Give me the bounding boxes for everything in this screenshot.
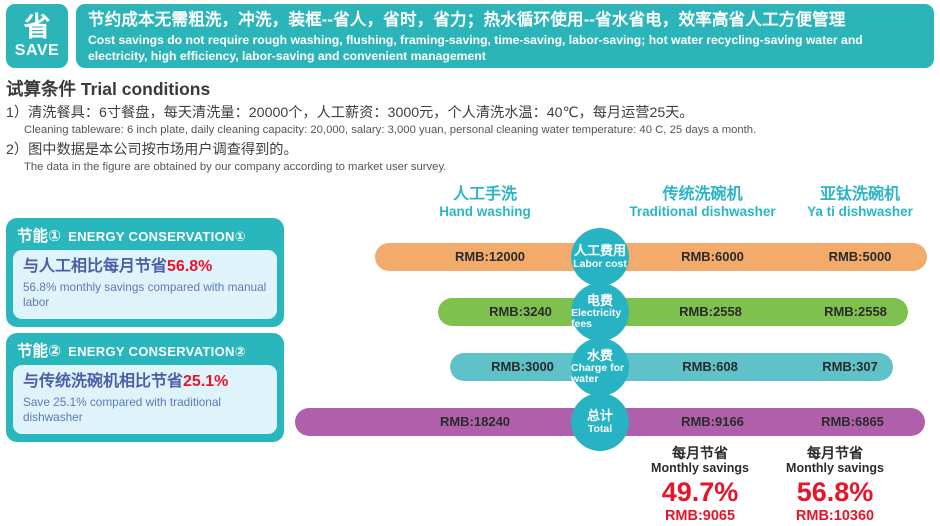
chart-row-badge-electricity-fees-cn: 电费 (587, 294, 613, 308)
monthly-savings-yati-amount: RMB:10360 (760, 508, 910, 525)
column-header-traditional-dishwasher-en: Traditional dishwasher (620, 204, 785, 220)
monthly-savings-yati-en: Monthly savings (760, 461, 910, 476)
chart-value-electricity-traditional: RMB:2558 (638, 298, 783, 326)
trial-conditions-title: 试算条件 Trial conditions (6, 78, 936, 101)
chart-value-water-yati: RMB:307 (790, 353, 910, 381)
monthly-savings-yati: 每月节省 Monthly savings 56.8% RMB:10360 (760, 445, 910, 526)
trial-condition-1-en: Cleaning tableware: 6 inch plate, daily … (24, 123, 936, 138)
banner-headline-cn: 节约成本无需粗洗，冲洗，装框--省人，省时，省力；热水循环使用--省水省电，效率… (88, 9, 924, 31)
monthly-savings-traditional-amount: RMB:9065 (625, 508, 775, 525)
chart-bar-charge-for-water: RMB:3000 RMB:608 RMB:307 (450, 353, 893, 381)
monthly-savings-traditional-percent: 49.7% (625, 477, 775, 508)
chart-row-badge-labor-cost: 人工费用 Labor cost (571, 228, 629, 286)
header-banner: 省 SAVE 节约成本无需粗洗，冲洗，装框--省人，省时，省力；热水循环使用--… (0, 4, 940, 70)
chart-value-total-traditional: RMB:9166 (640, 408, 785, 436)
trial-condition-2-cn: 2）图中数据是本公司按市场用户调查得到的。 (6, 141, 936, 160)
monthly-savings-yati-percent: 56.8% (760, 477, 910, 508)
save-badge: 省 SAVE (6, 4, 68, 68)
column-header-yati-dishwasher: 亚钛洗碗机 Ya ti dishwasher (785, 185, 935, 220)
column-header-traditional-dishwasher: 传统洗碗机 Traditional dishwasher (620, 185, 785, 220)
column-header-hand-washing: 人工手洗 Hand washing (395, 185, 575, 220)
monthly-savings-traditional-en: Monthly savings (625, 461, 775, 476)
chart-value-labor-cost-yati: RMB:5000 (795, 243, 925, 271)
chart-value-labor-cost-hand: RMB:12000 (405, 243, 575, 271)
chart-row-badge-labor-cost-cn: 人工费用 (574, 244, 626, 258)
chart-row-badge-total: 总计 Total (571, 393, 629, 451)
column-header-yati-dishwasher-en: Ya ti dishwasher (785, 204, 935, 220)
chart-value-water-traditional: RMB:608 (640, 353, 780, 381)
chart-row-badge-charge-for-water: 水费 Charge for water (571, 338, 629, 396)
chart-row-badge-charge-for-water-en: Charge for water (571, 363, 629, 385)
trial-condition-1-cn: 1）清洗餐具：6寸餐盘，每天清洗量：20000个，人工薪资：3000元，个人清洗… (6, 104, 936, 123)
chart-row-badge-charge-for-water-cn: 水费 (587, 349, 613, 363)
column-header-hand-washing-cn: 人工手洗 (395, 185, 575, 204)
monthly-savings-traditional-cn: 每月节省 (625, 445, 775, 461)
chart-row-badge-total-en: Total (588, 424, 612, 435)
chart-value-electricity-yati: RMB:2558 (793, 298, 918, 326)
trial-condition-item: 1）清洗餐具：6寸餐盘，每天清洗量：20000个，人工薪资：3000元，个人清洗… (6, 104, 936, 138)
save-badge-cn: 省 (24, 14, 51, 41)
trial-condition-2-en: The data in the figure are obtained by o… (24, 160, 936, 175)
column-header-traditional-dishwasher-cn: 传统洗碗机 (620, 185, 785, 204)
monthly-savings-traditional: 每月节省 Monthly savings 49.7% RMB:9065 (625, 445, 775, 526)
cost-comparison-chart: 人工手洗 Hand washing 传统洗碗机 Traditional dish… (0, 185, 940, 518)
chart-row-badge-electricity-fees-en: Electricity fees (571, 308, 629, 330)
column-header-hand-washing-en: Hand washing (395, 204, 575, 220)
chart-row-badge-electricity-fees: 电费 Electricity fees (571, 283, 629, 341)
chart-bar-labor-cost: RMB:12000 RMB:6000 RMB:5000 (375, 243, 927, 271)
chart-value-labor-cost-traditional: RMB:6000 (640, 243, 785, 271)
banner-body: 节约成本无需粗洗，冲洗，装框--省人，省时，省力；热水循环使用--省水省电，效率… (76, 4, 934, 68)
chart-value-total-yati: RMB:6865 (785, 408, 920, 436)
chart-row-badge-labor-cost-en: Labor cost (573, 259, 627, 270)
save-badge-en: SAVE (15, 43, 59, 59)
chart-value-total-hand: RMB:18240 (385, 408, 565, 436)
column-header-yati-dishwasher-cn: 亚钛洗碗机 (785, 185, 935, 204)
trial-conditions-section: 试算条件 Trial conditions 1）清洗餐具：6寸餐盘，每天清洗量：… (6, 78, 936, 174)
monthly-savings-yati-cn: 每月节省 (760, 445, 910, 461)
trial-condition-item: 2）图中数据是本公司按市场用户调查得到的。 The data in the fi… (6, 141, 936, 175)
chart-row-badge-total-cn: 总计 (587, 409, 613, 423)
banner-headline-en: Cost savings do not require rough washin… (88, 33, 924, 65)
chart-bar-electricity-fees: RMB:3240 RMB:2558 RMB:2558 (438, 298, 908, 326)
